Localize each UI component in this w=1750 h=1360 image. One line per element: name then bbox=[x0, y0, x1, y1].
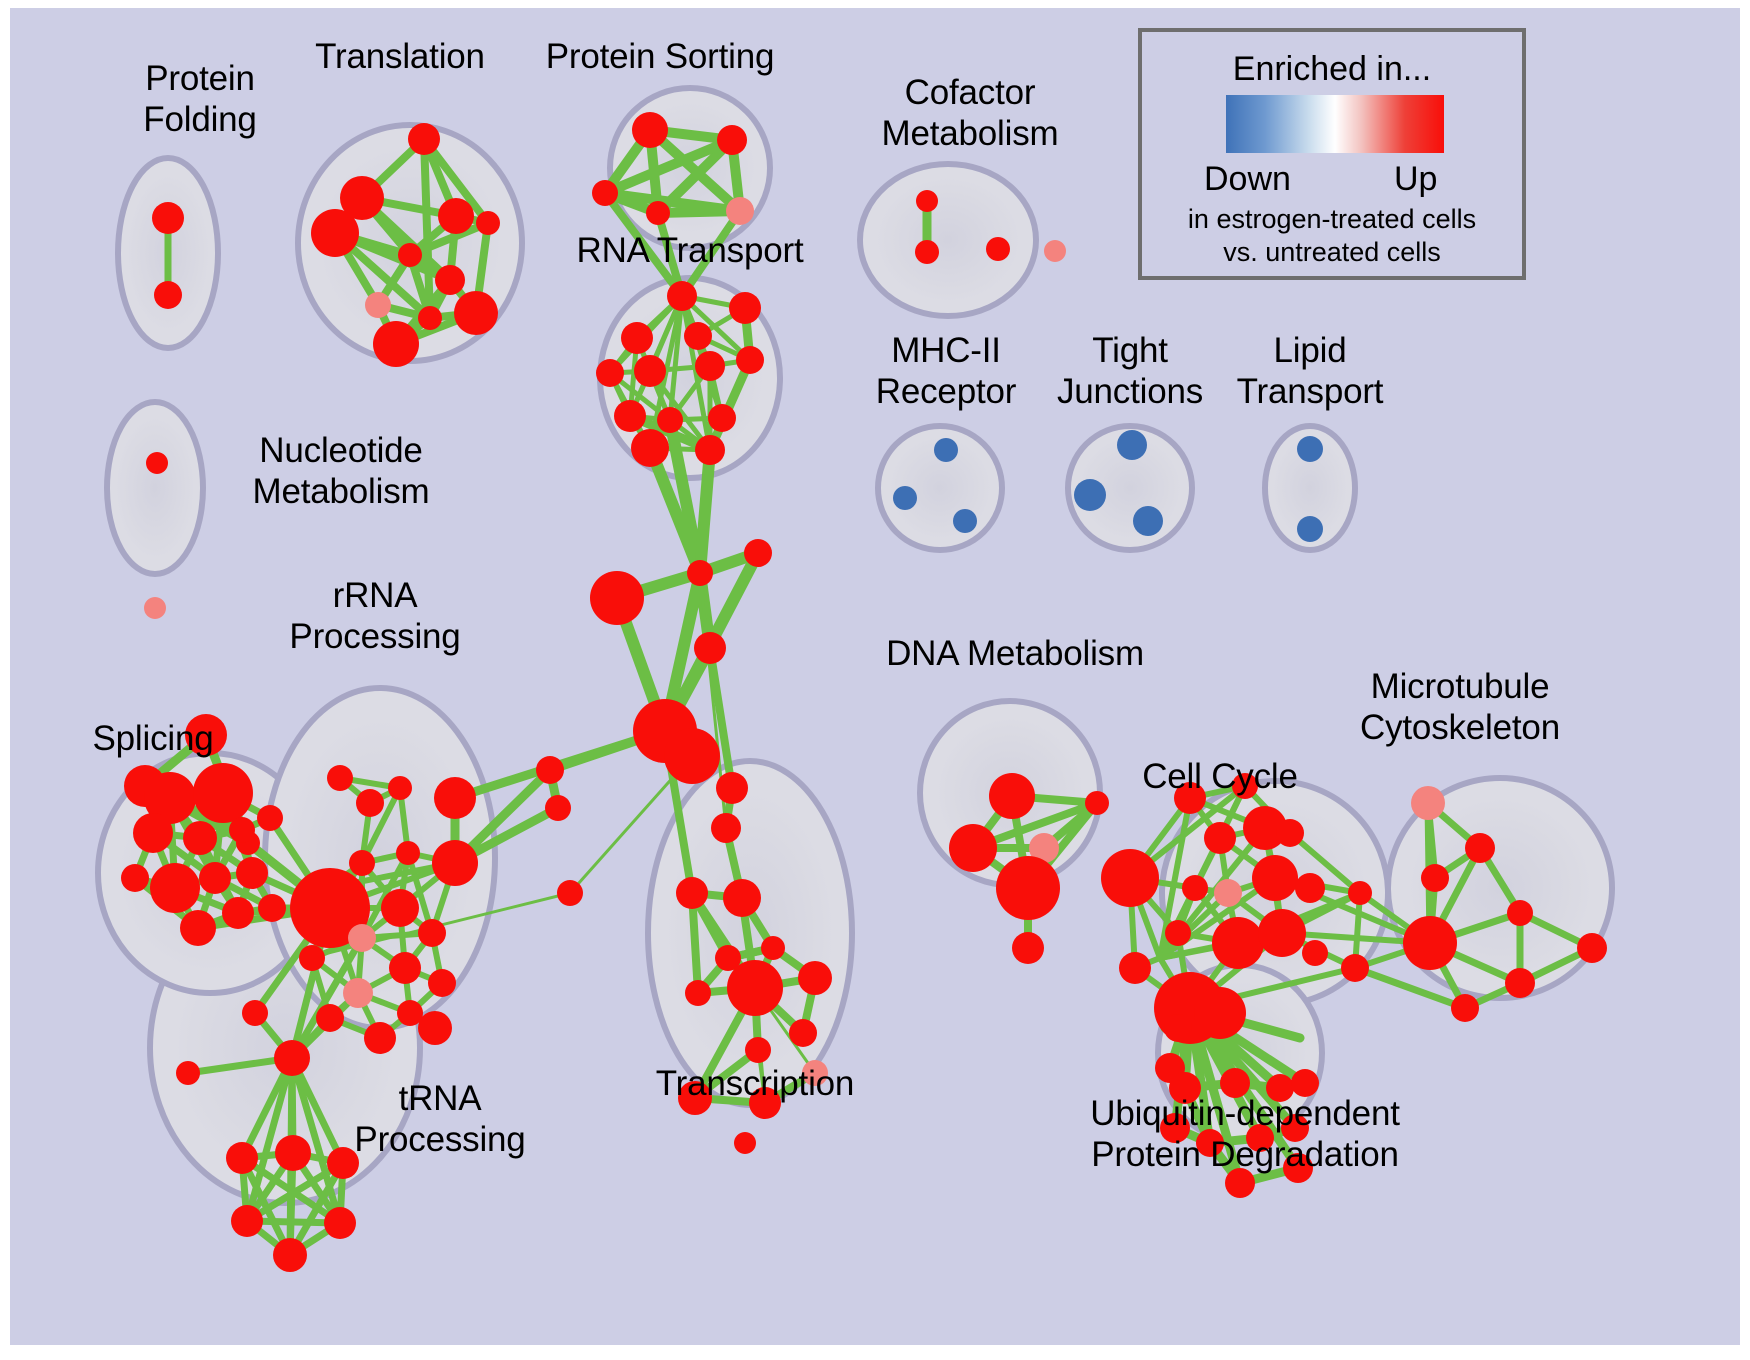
cluster-label-trna-processing: tRNA Processing bbox=[320, 1078, 560, 1160]
cluster-label-translation: Translation bbox=[280, 36, 520, 77]
cluster-label-rrna-processing: rRNA Processing bbox=[260, 575, 490, 657]
cluster-label-cofactor-metabolism: Cofactor Metabolism bbox=[845, 72, 1095, 154]
cluster-label-lipid-transport: Lipid Transport bbox=[1200, 330, 1420, 412]
legend-subtitle-line1: in estrogen-treated cells bbox=[1142, 204, 1522, 235]
legend-panel: Enriched in... Down Up in estrogen-treat… bbox=[1138, 28, 1526, 280]
cluster-label-transcription: Transcription bbox=[630, 1063, 880, 1104]
cluster-bubble-cofactor-metabolism bbox=[860, 164, 1036, 316]
cluster-label-splicing: Splicing bbox=[58, 718, 248, 759]
cluster-label-dna-metabolism: DNA Metabolism bbox=[870, 633, 1160, 674]
cluster-label-nucleotide-metabolism: Nucleotide Metabolism bbox=[206, 430, 476, 512]
cluster-label-microtubule-cytoskeleton: Microtubule Cytoskeleton bbox=[1310, 666, 1610, 748]
legend-down-label: Down bbox=[1204, 160, 1291, 199]
network-canvas: Protein Folding Translation Protein Sort… bbox=[10, 8, 1740, 1345]
cluster-label-protein-sorting: Protein Sorting bbox=[510, 36, 810, 77]
cluster-label-ubiquitin-protein-degradation: Ubiquitin-dependent Protein Degradation bbox=[1045, 1093, 1445, 1175]
cluster-label-cell-cycle: Cell Cycle bbox=[1105, 756, 1335, 797]
figure-root: Protein Folding Translation Protein Sort… bbox=[0, 0, 1750, 1360]
cluster-bubble-nucleotide-metabolism bbox=[107, 402, 203, 574]
legend-up-label: Up bbox=[1394, 160, 1437, 199]
legend-title: Enriched in... bbox=[1142, 50, 1522, 89]
legend-color-gradient-bar bbox=[1226, 95, 1444, 153]
legend-subtitle-line2: vs. untreated cells bbox=[1142, 237, 1522, 268]
cluster-label-rna-transport: RNA Transport bbox=[560, 230, 820, 271]
